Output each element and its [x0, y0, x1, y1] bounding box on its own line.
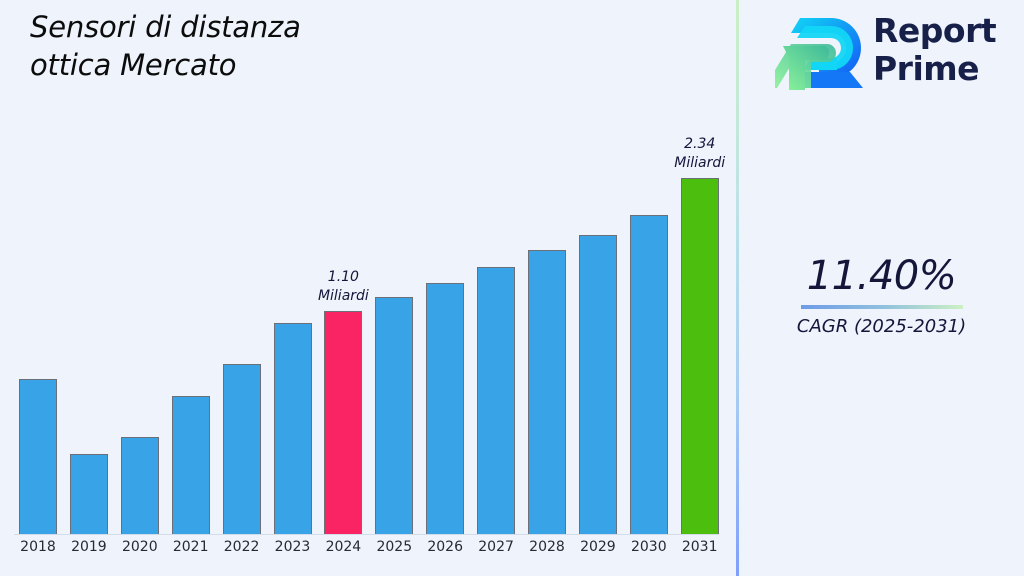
bar-chart: 2018201920202021202220232024202520262027… — [0, 0, 737, 576]
bar-2026[interactable] — [426, 283, 464, 534]
bar-2022[interactable] — [223, 364, 261, 534]
bar-value-label-2024: 1.10 Miliardi — [288, 268, 398, 306]
bar-2021[interactable] — [172, 396, 210, 534]
bar-2019[interactable] — [70, 454, 108, 534]
cagr-caption: CAGR (2025-2031) — [739, 315, 1024, 339]
x-axis-line — [14, 534, 719, 535]
bar-2023[interactable] — [274, 323, 312, 534]
brand-name: Report Prime — [873, 12, 996, 88]
cagr-divider — [801, 305, 963, 309]
brand-panel: Report Prime 11.40% CAGR (2025-2031) — [739, 0, 1024, 576]
bar-2024[interactable] — [324, 311, 362, 534]
cagr-value: 11.40% — [739, 252, 1024, 300]
brand-logo: Report Prime — [775, 8, 1011, 96]
report-card: Sensori di distanza ottica Mercato 20182… — [0, 0, 1024, 576]
bar-2028[interactable] — [528, 250, 566, 534]
report-prime-logo-icon — [775, 10, 867, 94]
bar-2025[interactable] — [375, 297, 413, 534]
bar-2018[interactable] — [19, 379, 57, 534]
x-tick-2031: 2031 — [670, 539, 730, 555]
cagr-block: 11.40% CAGR (2025-2031) — [739, 252, 1024, 339]
bar-2030[interactable] — [630, 215, 668, 534]
chart-panel: Sensori di distanza ottica Mercato 20182… — [0, 0, 737, 576]
bar-2029[interactable] — [579, 235, 617, 534]
bar-2020[interactable] — [121, 437, 159, 534]
bar-2031[interactable] — [681, 178, 719, 534]
bar-2027[interactable] — [477, 267, 515, 534]
